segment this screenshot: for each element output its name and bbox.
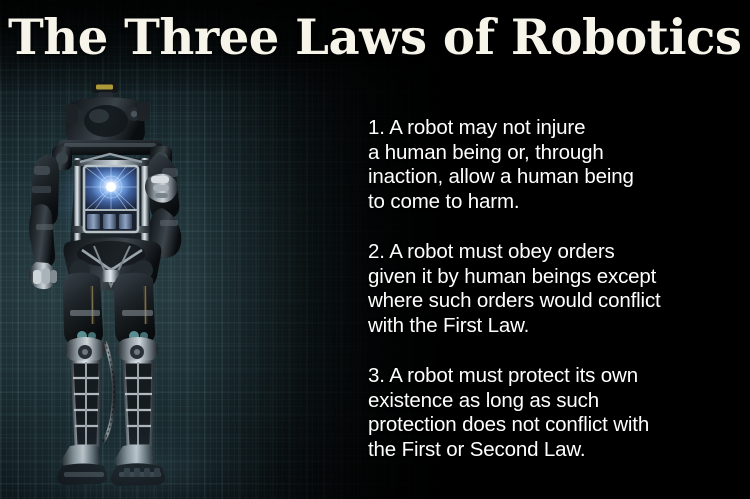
law-3-line-3: protection does not conflict with	[368, 413, 744, 438]
law-2-line-1: 2. A robot must obey orders	[368, 240, 744, 265]
law-3-line-2: existence as long as such	[368, 389, 744, 414]
law-1-line-1: 1. A robot may not injure	[368, 116, 744, 141]
laws-list: 1. A robot may not injure a human being …	[368, 116, 744, 462]
law-2-line-4: with the First Law.	[368, 314, 744, 339]
poster-canvas: The Three Laws of Robotics 1. A robot ma…	[0, 0, 750, 499]
law-1-line-3: inaction, allow a human being	[368, 165, 744, 190]
law-item-2: 2. A robot must obey orders given it by …	[368, 240, 744, 338]
law-3-line-4: the First or Second Law.	[368, 438, 744, 463]
law-1-line-2: a human being or, through	[368, 141, 744, 166]
page-title: The Three Laws of Robotics	[8, 8, 732, 66]
law-item-1: 1. A robot may not injure a human being …	[368, 116, 744, 214]
law-3-line-1: 3. A robot must protect its own	[368, 364, 744, 389]
law-2-line-3: where such orders would conflict	[368, 289, 744, 314]
law-2-line-2: given it by human beings except	[368, 265, 744, 290]
law-1-line-4: to come to harm.	[368, 190, 744, 215]
law-item-3: 3. A robot must protect its own existenc…	[368, 364, 744, 462]
